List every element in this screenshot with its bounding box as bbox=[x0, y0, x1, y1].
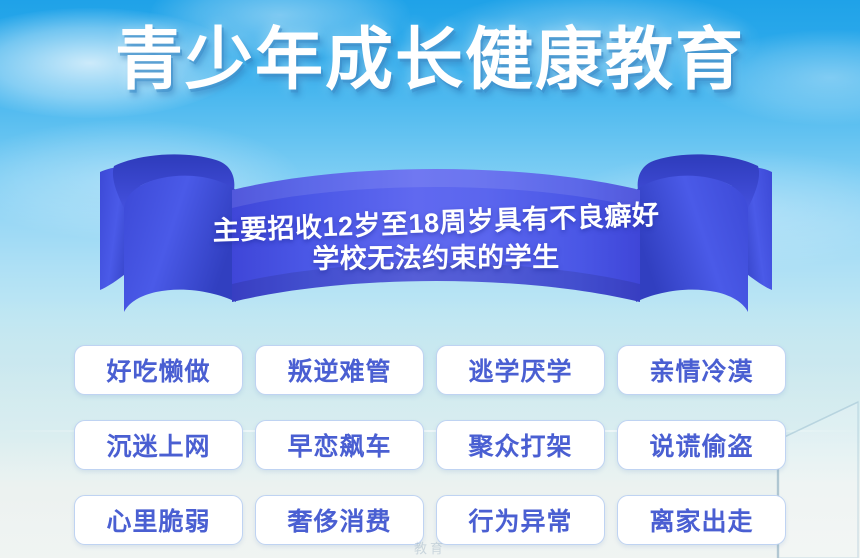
tag-item[interactable]: 心里脆弱 bbox=[74, 495, 243, 545]
poster-canvas: 青少年成长健康教育 bbox=[0, 0, 860, 558]
ribbon-banner: 主要招收12岁至18周岁具有不良癖好 学校无法约束的学生 bbox=[98, 150, 774, 325]
tag-item[interactable]: 奢侈消费 bbox=[255, 495, 424, 545]
tag-item[interactable]: 沉迷上网 bbox=[74, 420, 243, 470]
tag-item[interactable]: 叛逆难管 bbox=[255, 345, 424, 395]
tag-item[interactable]: 早恋飙车 bbox=[255, 420, 424, 470]
page-title: 青少年成长健康教育 bbox=[115, 26, 745, 94]
tag-item[interactable]: 逃学厌学 bbox=[436, 345, 605, 395]
tag-item[interactable]: 说谎偷盗 bbox=[617, 420, 786, 470]
tag-item[interactable]: 亲情冷漠 bbox=[617, 345, 786, 395]
poster-title-area: 青少年成长健康教育 bbox=[0, 26, 860, 94]
behavior-tag-grid: 好吃懒做 叛逆难管 逃学厌学 亲情冷漠 沉迷上网 早恋飙车 聚众打架 说谎偷盗 … bbox=[74, 345, 786, 545]
tag-item[interactable]: 离家出走 bbox=[617, 495, 786, 545]
tag-item[interactable]: 聚众打架 bbox=[436, 420, 605, 470]
tag-item[interactable]: 好吃懒做 bbox=[74, 345, 243, 395]
tag-item[interactable]: 行为异常 bbox=[436, 495, 605, 545]
